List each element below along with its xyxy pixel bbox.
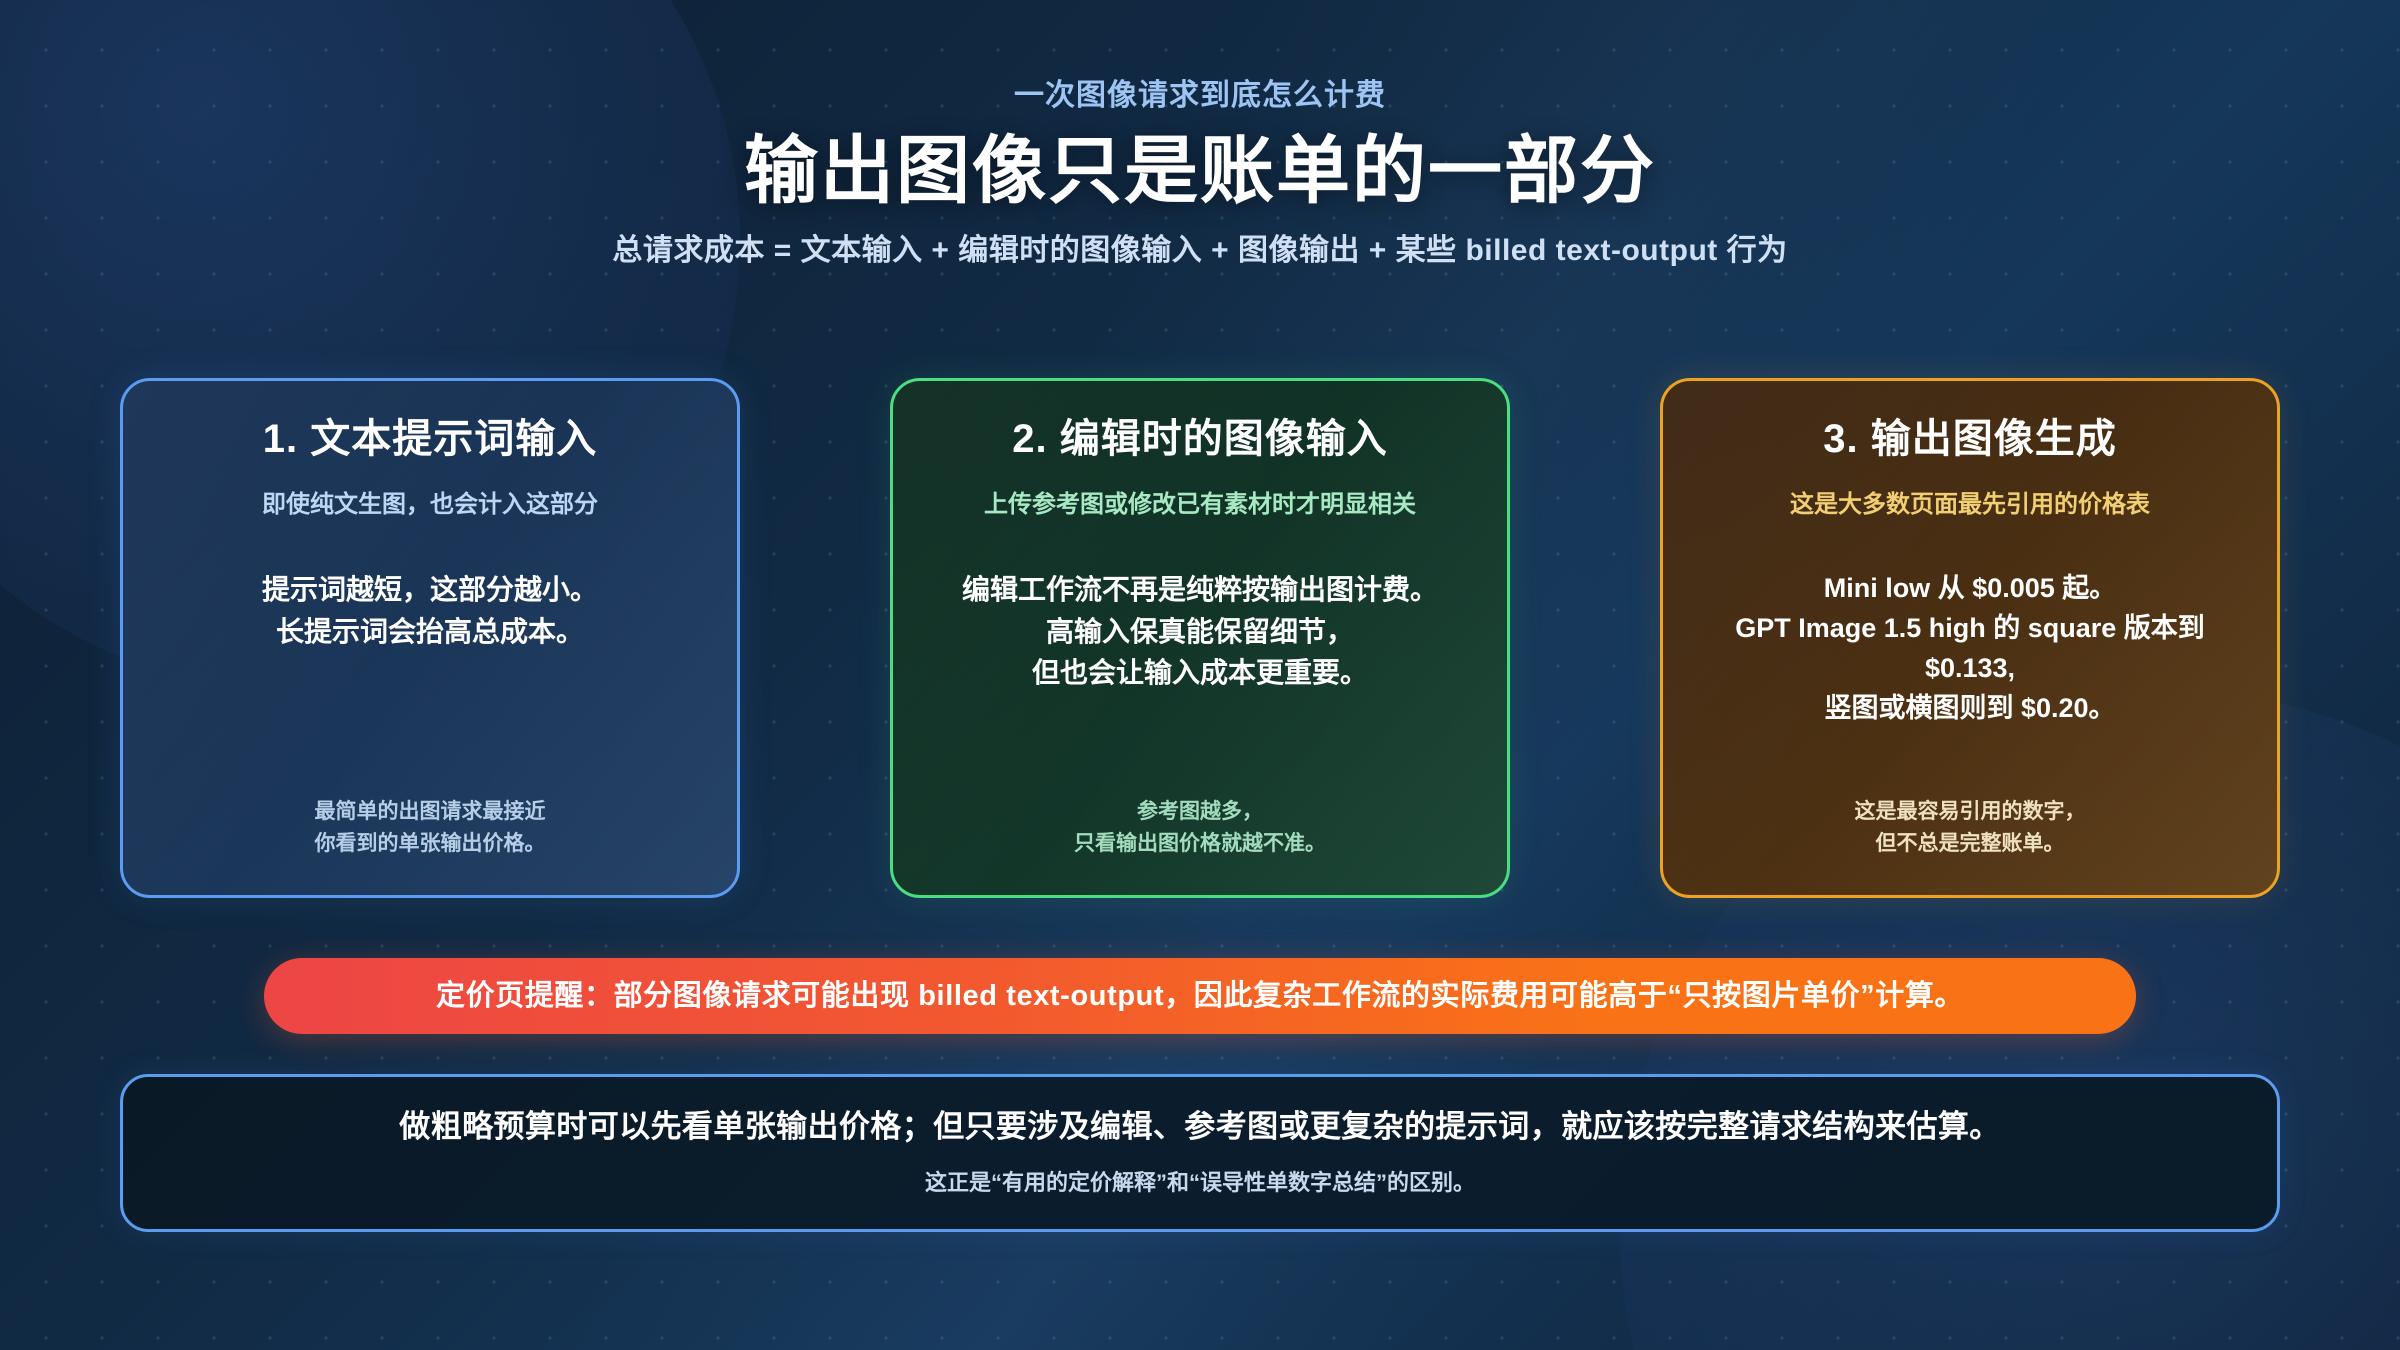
card-title: 1. 文本提示词输入 xyxy=(263,415,597,463)
card-body: 提示词越短，这部分越小。 长提示词会抬高总成本。 xyxy=(262,569,598,652)
card-note-line: 最简单的出图请求最接近 xyxy=(315,796,546,828)
card-subtitle: 上传参考图或修改已有素材时才明显相关 xyxy=(984,489,1416,521)
card-note-line: 但不总是完整账单。 xyxy=(1855,828,2086,860)
card-body-line: 长提示词会抬高总成本。 xyxy=(262,611,598,652)
card-body-line: 竖图或横图则到 $0.20。 xyxy=(1693,689,2247,729)
header-formula: 总请求成本 = 文本输入 + 编辑时的图像输入 + 图像输出 + 某些 bill… xyxy=(0,231,2400,270)
card-image-input-on-edit: 2. 编辑时的图像输入 上传参考图或修改已有素材时才明显相关 编辑工作流不再是纯… xyxy=(890,378,1510,898)
summary-box: 做粗略预算时可以先看单张输出价格；但只要涉及编辑、参考图或更复杂的提示词，就应该… xyxy=(120,1074,2280,1232)
pricing-alert-banner: 定价页提醒：部分图像请求可能出现 billed text-output，因此复杂… xyxy=(264,958,2136,1034)
pricing-alert-text: 定价页提醒：部分图像请求可能出现 billed text-output，因此复杂… xyxy=(412,979,1988,1014)
card-subtitle: 即使纯文生图，也会计入这部分 xyxy=(262,489,598,521)
card-note-line: 只看输出图价格就越不准。 xyxy=(1074,828,1326,860)
card-output-image-generation: 3. 输出图像生成 这是大多数页面最先引用的价格表 Mini low 从 $0.… xyxy=(1660,378,2280,898)
summary-main-text: 做粗略预算时可以先看单张输出价格；但只要涉及编辑、参考图或更复杂的提示词，就应该… xyxy=(369,1108,2030,1147)
card-note: 这是最容易引用的数字， 但不总是完整账单。 xyxy=(1855,796,2086,865)
card-body: 编辑工作流不再是纯粹按输出图计费。 高输入保真能保留细节， 但也会让输入成本更重… xyxy=(962,569,1438,693)
card-note: 最简单的出图请求最接近 你看到的单张输出价格。 xyxy=(315,796,546,865)
card-note-line: 这是最容易引用的数字， xyxy=(1855,796,2086,828)
card-body: Mini low 从 $0.005 起。 GPT Image 1.5 high … xyxy=(1693,569,2247,729)
card-body-line: Mini low 从 $0.005 起。 xyxy=(1693,569,2247,609)
card-note: 参考图越多， 只看输出图价格就越不准。 xyxy=(1074,796,1326,865)
page-title: 输出图像只是账单的一部分 xyxy=(0,130,2400,213)
card-title: 2. 编辑时的图像输入 xyxy=(1012,415,1387,463)
card-body-line: 高输入保真能保留细节， xyxy=(962,611,1438,652)
card-note-line: 参考图越多， xyxy=(1074,796,1326,828)
card-body-line: 编辑工作流不再是纯粹按输出图计费。 xyxy=(962,569,1438,610)
summary-sub-text: 这正是“有用的定价解释”和“误导性单数字总结”的区别。 xyxy=(895,1169,1505,1198)
card-body-line: 提示词越短，这部分越小。 xyxy=(262,569,598,610)
card-note-line: 你看到的单张输出价格。 xyxy=(315,828,546,860)
card-title: 3. 输出图像生成 xyxy=(1823,415,2116,463)
content-layer: 一次图像请求到底怎么计费 输出图像只是账单的一部分 总请求成本 = 文本输入 +… xyxy=(0,0,2400,1350)
infographic-canvas: 一次图像请求到底怎么计费 输出图像只是账单的一部分 总请求成本 = 文本输入 +… xyxy=(0,0,2400,1350)
card-subtitle: 这是大多数页面最先引用的价格表 xyxy=(1790,489,2150,521)
cards-row: 1. 文本提示词输入 即使纯文生图，也会计入这部分 提示词越短，这部分越小。 长… xyxy=(120,378,2280,898)
header: 一次图像请求到底怎么计费 输出图像只是账单的一部分 总请求成本 = 文本输入 +… xyxy=(0,78,2400,270)
card-text-prompt-input: 1. 文本提示词输入 即使纯文生图，也会计入这部分 提示词越短，这部分越小。 长… xyxy=(120,378,740,898)
card-body-line: 但也会让输入成本更重要。 xyxy=(962,652,1438,693)
card-body-line: GPT Image 1.5 high 的 square 版本到 $0.133, xyxy=(1693,609,2247,689)
header-eyebrow: 一次图像请求到底怎么计费 xyxy=(0,78,2400,114)
